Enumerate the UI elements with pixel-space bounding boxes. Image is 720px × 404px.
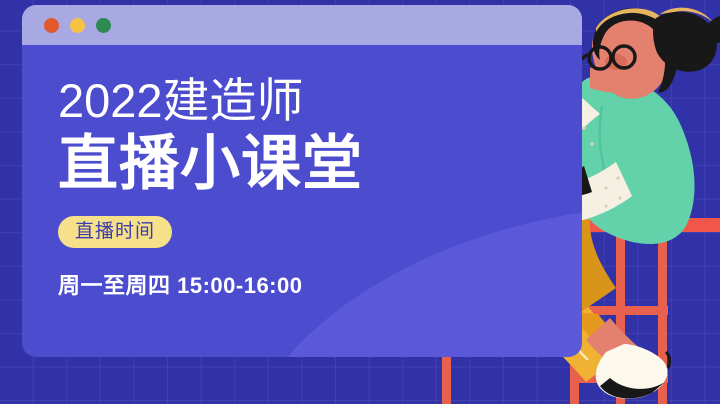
window-controls bbox=[44, 18, 111, 33]
promo-window-card: 2022建造师 直播小课堂 直播时间 周一至周四 15:00-16:00 bbox=[22, 5, 582, 357]
schedule-text: 周一至周四 15:00-16:00 bbox=[58, 268, 478, 300]
window-titlebar bbox=[22, 5, 582, 45]
page-subtitle: 直播小课堂 bbox=[58, 134, 478, 194]
page-title: 2022建造师 bbox=[58, 77, 478, 125]
minimize-dot[interactable] bbox=[70, 18, 85, 33]
promo-text-stack: 2022建造师 直播小课堂 直播时间 周一至周四 15:00-16:00 bbox=[58, 77, 478, 300]
maximize-dot[interactable] bbox=[96, 18, 111, 33]
promo-card-body: 2022建造师 直播小课堂 直播时间 周一至周四 15:00-16:00 bbox=[22, 45, 582, 357]
live-class-banner: 2022建造师 直播小课堂 直播时间 周一至周四 15:00-16:00 bbox=[0, 0, 720, 404]
status-badge: 直播时间 bbox=[58, 216, 172, 248]
close-dot[interactable] bbox=[44, 18, 59, 33]
